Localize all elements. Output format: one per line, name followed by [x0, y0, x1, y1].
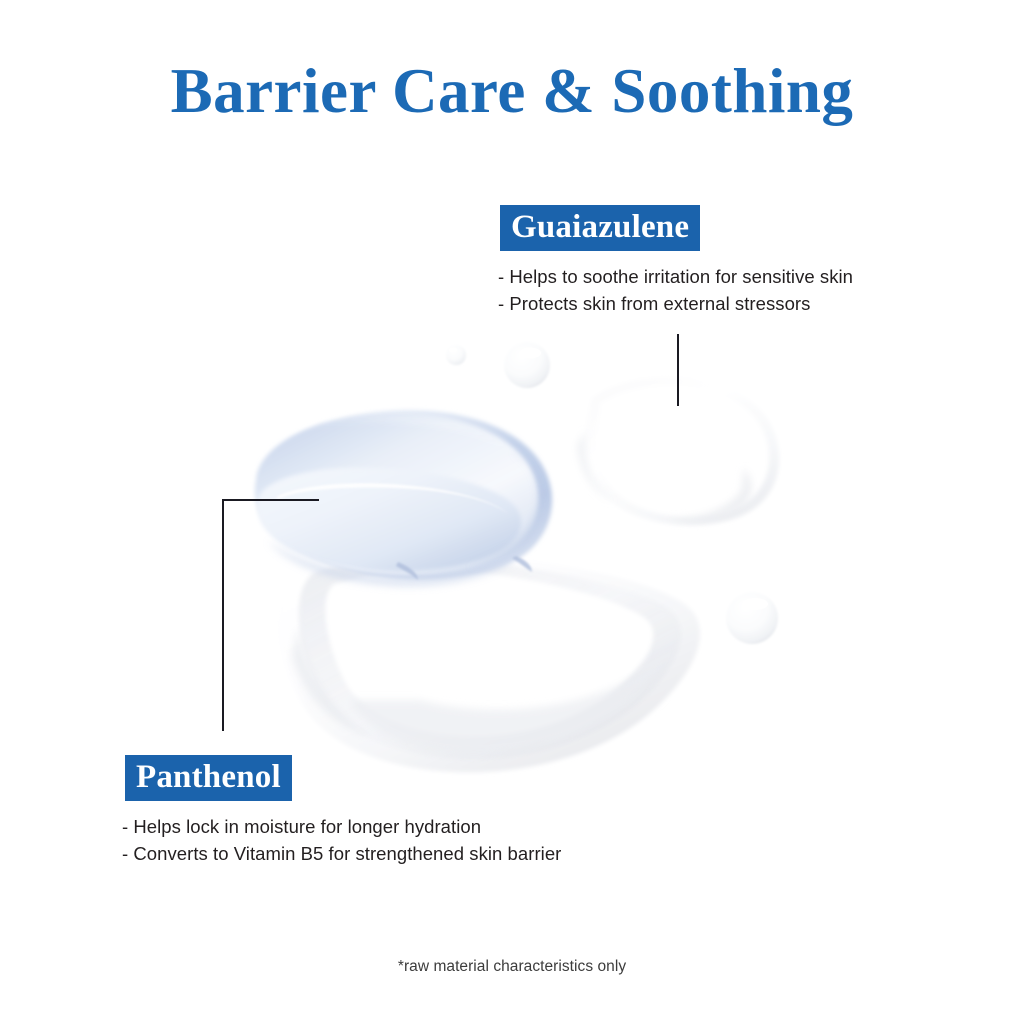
cream-texture-artwork — [0, 0, 1024, 1024]
infographic-canvas: Barrier Care & Soothing — [0, 0, 1024, 1024]
ingredient-chip-guaiazulene: Guaiazulene — [500, 205, 700, 251]
bullet-guaiazulene-2: - Protects skin from external stressors — [498, 290, 853, 317]
callout-body-guaiazulene: - Helps to soothe irritation for sensiti… — [498, 263, 853, 317]
droplet-medium-right — [726, 592, 778, 649]
callout-panthenol: Panthenol - Helps lock in moisture for l… — [125, 755, 561, 867]
bullet-panthenol-1: - Helps lock in moisture for longer hydr… — [122, 813, 561, 840]
callout-guaiazulene: Guaiazulene - Helps to soothe irritation… — [500, 205, 853, 317]
bullet-guaiazulene-1: - Helps to soothe irritation for sensiti… — [498, 263, 853, 290]
leader-line-panthenol-vertical — [222, 499, 224, 731]
white-cream-swatch — [276, 550, 700, 773]
blue-cream-swatch — [255, 410, 552, 586]
leader-line-panthenol-horizontal — [222, 499, 319, 501]
ingredient-chip-panthenol: Panthenol — [125, 755, 292, 801]
callout-body-panthenol: - Helps lock in moisture for longer hydr… — [122, 813, 561, 867]
droplet-small-upper — [446, 345, 466, 365]
page-title: Barrier Care & Soothing — [0, 58, 1024, 124]
footnote-disclaimer: *raw material characteristics only — [0, 958, 1024, 976]
droplet-medium-upper — [504, 342, 550, 395]
leader-line-guaiazulene — [677, 334, 679, 406]
bullet-panthenol-2: - Converts to Vitamin B5 for strengthene… — [122, 840, 561, 867]
